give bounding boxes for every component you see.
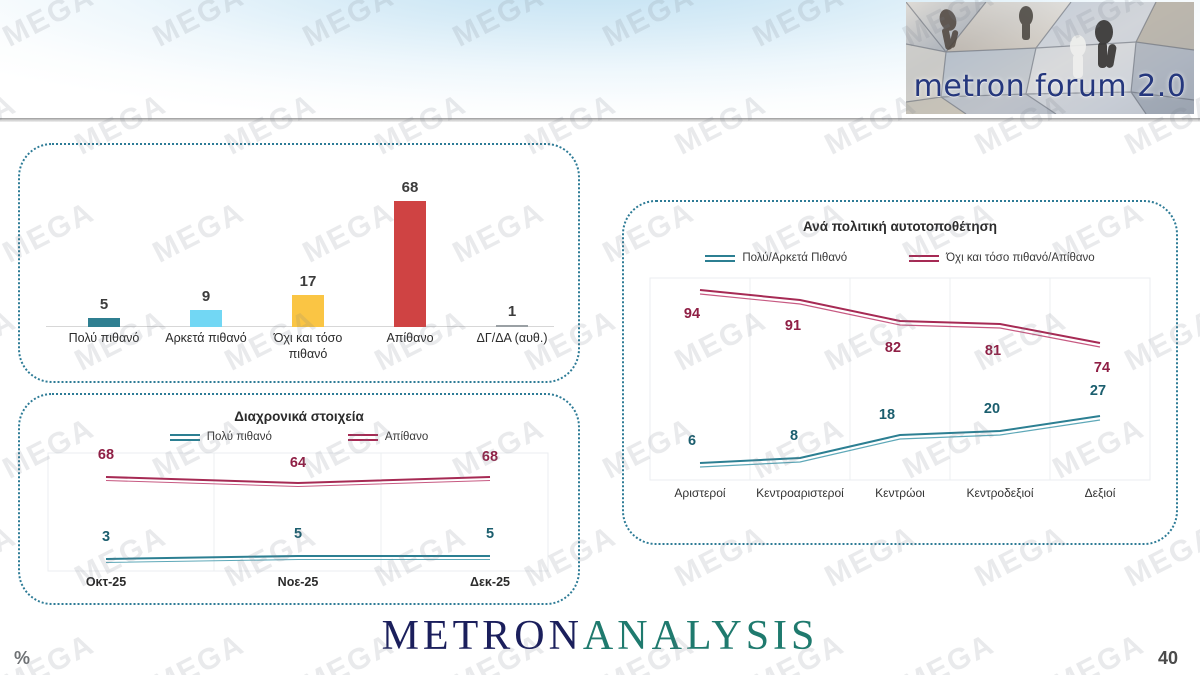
bar-category-label: Όχι και τόσο πιθανό xyxy=(264,331,352,362)
panel-timeseries-chart: Διαχρονικά στοιχεία Πολύ πιθανό Απίθανο xyxy=(18,393,580,605)
legend-label: Απίθανο xyxy=(385,431,428,443)
x-axis-label: Οκτ-25 xyxy=(86,575,126,589)
political-plot-area: 94 91 82 81 74 6 8 18 20 27 xyxy=(650,278,1150,480)
bar-value-label: 9 xyxy=(202,288,210,305)
header-divider xyxy=(0,118,1200,122)
bar-column[interactable]: 17 xyxy=(276,179,340,327)
legend-item[interactable]: Όχι και τόσο πιθανό/Απίθανο xyxy=(909,252,1095,264)
legend-label: Όχι και τόσο πιθανό/Απίθανο xyxy=(946,252,1095,264)
x-axis-label: Δεκ-25 xyxy=(470,575,510,589)
bar-category-label: Πολύ πιθανό xyxy=(54,331,154,347)
x-axis-label: Δεξιοί xyxy=(1085,486,1116,500)
x-axis-label: Νοε-25 xyxy=(278,575,319,589)
legend-line-icon xyxy=(348,434,378,441)
datapoint-label: 20 xyxy=(984,401,1000,417)
metron-forum-logo: metron forum 2.0 xyxy=(906,2,1194,114)
metron-analysis-logo: METRONANALYSIS xyxy=(0,612,1200,660)
legend-label: Πολύ πιθανό xyxy=(207,431,272,443)
bar-chart-category-axis: Πολύ πιθανό Αρκετά πιθανό Όχι και τόσο π… xyxy=(46,331,554,371)
datapoint-label: 8 xyxy=(790,428,798,444)
timeseries-chart-title: Διαχρονικά στοιχεία xyxy=(20,409,578,424)
datapoint-label: 27 xyxy=(1090,383,1106,399)
bar-category-label: ΔΓ/ΔΑ (αυθ.) xyxy=(464,331,560,347)
bar-column[interactable]: 68 xyxy=(378,179,442,327)
datapoint-label: 94 xyxy=(684,306,700,322)
datapoint-label: 68 xyxy=(482,449,498,465)
bar-rect xyxy=(88,318,120,328)
legend-line-icon xyxy=(909,255,939,262)
political-svg xyxy=(650,278,1150,480)
series-line-poly-pithano xyxy=(106,556,490,559)
datapoint-label: 5 xyxy=(486,526,494,542)
political-chart-title: Ανά πολιτική αυτοτοποθέτηση xyxy=(624,219,1176,234)
bar-value-label: 17 xyxy=(300,273,317,290)
bar-category-label: Αρκετά πιθανό xyxy=(154,331,258,347)
legend-line-icon xyxy=(170,434,200,441)
bar-column[interactable]: 9 xyxy=(174,179,238,327)
bar-value-label: 68 xyxy=(402,179,419,196)
legend-item[interactable]: Πολύ/Αρκετά Πιθανό xyxy=(705,252,847,264)
panel-likelihood-bar-chart: 5 9 17 68 1 Πολύ πιθανό Αρκετά πιθανό Όχ… xyxy=(18,143,580,383)
datapoint-label: 18 xyxy=(879,407,895,423)
bar-chart-plot: 5 9 17 68 1 xyxy=(46,179,554,327)
bar-column[interactable]: 5 xyxy=(72,179,136,327)
datapoint-label: 68 xyxy=(98,447,114,463)
legend-line-icon xyxy=(705,255,735,262)
bar-value-label: 1 xyxy=(508,303,516,320)
x-axis-label: Κεντρώοι xyxy=(875,486,925,500)
timeseries-legend: Πολύ πιθανό Απίθανο xyxy=(20,431,578,443)
datapoint-label: 82 xyxy=(885,340,901,356)
bar-value-label: 5 xyxy=(100,296,108,313)
legend-label: Πολύ/Αρκετά Πιθανό xyxy=(742,252,847,264)
bar-rect xyxy=(292,295,324,327)
bar-category-label: Απίθανο xyxy=(362,331,458,347)
bar-rect xyxy=(190,310,222,327)
datapoint-label: 81 xyxy=(985,343,1001,359)
bar-rect xyxy=(394,201,426,327)
brand-analysis: ANALYSIS xyxy=(583,613,818,659)
datapoint-label: 91 xyxy=(785,318,801,334)
datapoint-label: 5 xyxy=(294,526,302,542)
legend-item[interactable]: Πολύ πιθανό xyxy=(170,431,272,443)
x-axis-label: Κεντροδεξιοί xyxy=(966,486,1033,500)
timeseries-plot-area: 68 64 68 3 5 5 xyxy=(48,453,548,571)
political-legend: Πολύ/Αρκετά Πιθανό Όχι και τόσο πιθανό/Α… xyxy=(624,252,1176,264)
bar-column[interactable]: 1 xyxy=(480,179,544,327)
x-axis-label: Αριστεροί xyxy=(674,486,725,500)
datapoint-label: 6 xyxy=(688,433,696,449)
x-axis-label: Κεντροαριστεροί xyxy=(756,486,844,500)
brand-metron: METRON xyxy=(382,613,583,659)
bar-rect xyxy=(496,325,528,327)
panel-political-placement-chart: Ανά πολιτική αυτοτοποθέτηση Πολύ/Αρκετά … xyxy=(622,200,1178,545)
datapoint-label: 3 xyxy=(102,529,110,545)
logo-wordmark: metron forum 2.0 xyxy=(906,69,1194,104)
legend-item[interactable]: Απίθανο xyxy=(348,431,428,443)
datapoint-label: 74 xyxy=(1094,360,1110,376)
datapoint-label: 64 xyxy=(290,455,306,471)
